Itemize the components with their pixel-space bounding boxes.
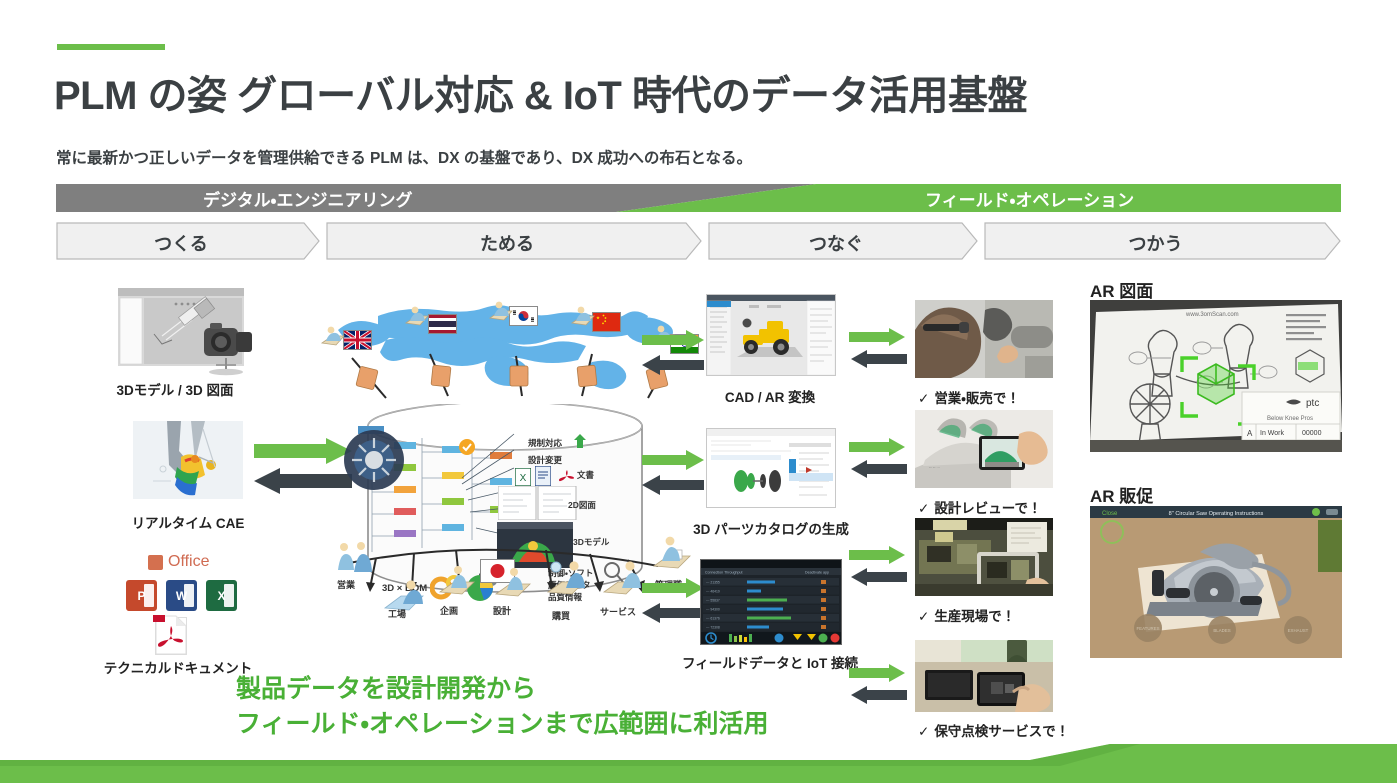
- repo-label-regulation: 規制対応: [528, 437, 562, 449]
- svg-text:--- 46419: --- 46419: [706, 590, 720, 594]
- 2d-drawing-thumb: [498, 486, 578, 520]
- role-label-sales: 営業: [337, 578, 355, 591]
- ar-promo-header: 8" Circular Saw Operating Instructions: [1169, 511, 1264, 517]
- office-brand-label: Office: [168, 553, 210, 571]
- phase-chevrons: つくる ためる つなぐ つかう: [56, 222, 1341, 260]
- left-caption-3d-model: 3Dモデル / 3D 図面: [80, 379, 270, 399]
- page-subtitle: 常に最新かつ正しいデータを管理供給できる PLM は、DX の基盤であり、DX …: [56, 146, 752, 168]
- ar-circular-saw-photo: Close 8" Circular Saw Operating Instruct…: [1090, 506, 1342, 658]
- phase-label-tsunagu: つなぐ: [708, 230, 964, 256]
- role-figure-manager: [650, 534, 700, 578]
- accent-rule: [57, 44, 165, 50]
- cad-ar-conversion-screenshot: [706, 294, 836, 376]
- svg-text:--- 61376: --- 61376: [706, 617, 720, 621]
- repo-label-design-change: 設計変更: [528, 454, 562, 466]
- iot-dashboard-screenshot: Connection Throughput Deactivate app ---…: [700, 559, 842, 645]
- person-worker-china: [570, 305, 598, 329]
- slide-root: PLM の姿 グローバル対応 & IoT 時代のデータ活用基盤 常に最新かつ正し…: [0, 0, 1397, 783]
- ar-hotspot-exhaust: EXHAUST: [1288, 628, 1309, 633]
- svg-text:Deactivate app: Deactivate app: [805, 571, 829, 575]
- repo-label-3d-model: 3Dモデル: [573, 536, 609, 548]
- tablet-car-review-photo: -- -- ...: [915, 410, 1053, 488]
- usecase-caption-production: ✓生産現場で！: [918, 605, 1015, 625]
- person-worker-thailand: [404, 305, 432, 329]
- check-icon-1: ✓: [918, 391, 929, 407]
- cae-simulation-thumbnail: [133, 421, 243, 499]
- role-label-service: サービス: [600, 605, 636, 618]
- svg-text:--- 72308: --- 72308: [706, 626, 720, 630]
- camera-icon: [196, 318, 260, 376]
- repo-label-2d-drawing: 2D図面: [568, 499, 596, 511]
- arrow-pair-usecase-2: [843, 438, 913, 480]
- ar-promo-close: Close: [1102, 511, 1118, 517]
- factory-floor-photo: [915, 518, 1053, 596]
- repo-label-document: 文書: [577, 469, 594, 481]
- acrobat-icon: [152, 614, 192, 656]
- parts-catalog-screenshot: [706, 428, 836, 508]
- office-app-icons: P W X: [126, 580, 237, 611]
- phase-label-tameru: ためる: [326, 230, 688, 256]
- arrow-pair-usecase-4: [843, 664, 913, 706]
- check-icon-2: ✓: [918, 501, 929, 517]
- hololens-photo: [915, 300, 1053, 378]
- role-figure-planning: [438, 564, 482, 602]
- svg-text:X: X: [520, 473, 527, 484]
- usecase-text-design-review: 設計レビューで！: [934, 501, 1041, 516]
- usecase-text-sales: 営業・販売で！: [934, 391, 1020, 406]
- ar-drawing-site: www.3omScan.com: [1185, 312, 1239, 318]
- arrow-pair-center-top: [638, 330, 712, 378]
- regulation-green-icon: [573, 434, 587, 457]
- role-label-design: 設計: [493, 604, 511, 617]
- key-statement: 製品データを設計開発から フィールド・オペレーションまで広範囲に利活用: [236, 672, 769, 741]
- regulation-icon: [458, 438, 476, 461]
- ar-drawing-title: AR 図面: [1090, 277, 1153, 302]
- office-brand: Office: [124, 553, 254, 575]
- ar-drawing-photo: www.3omScan.com: [1090, 300, 1342, 452]
- usecase-text-production: 生産現場で！: [934, 609, 1015, 624]
- middle-caption-cad-ar: CAD / AR 変換: [676, 386, 864, 406]
- banner-label-digital-engineering: デジタル・エンジニアリング: [203, 186, 412, 211]
- svg-text:-- -- ...: -- -- ...: [929, 464, 940, 469]
- middle-caption-parts-catalog: 3D パーツカタログの生成: [662, 518, 880, 538]
- ar-drawing-subject: Below Knee Pros: [1267, 416, 1313, 422]
- svg-text:--- 55837: --- 55837: [706, 599, 720, 603]
- maintenance-tablet-photo: [915, 640, 1053, 712]
- role-figure-sales: [334, 540, 380, 580]
- ar-drawing-brand: ptc: [1306, 398, 1319, 409]
- ar-promo-title: AR 販促: [1090, 482, 1153, 507]
- usecase-caption-maintenance: ✓保守点検サービスで！: [918, 720, 1069, 740]
- page-title: PLM の姿 グローバル対応 & IoT 時代のデータ活用基盤: [54, 63, 1027, 121]
- usecase-text-maintenance: 保守点検サービスで！: [934, 724, 1069, 739]
- svg-text:Connection Throughput: Connection Throughput: [705, 571, 743, 575]
- arrow-pair-usecase-3: [843, 546, 913, 588]
- role-label-procurement: 購買: [552, 609, 570, 622]
- excel-icon: X: [206, 580, 237, 611]
- role-figure-design: [494, 566, 538, 604]
- banner-label-field-operation: フィールド・オペレーション: [925, 186, 1134, 211]
- word-icon: W: [166, 580, 197, 611]
- ar-hotspot-blades: BLADES: [1213, 628, 1230, 633]
- check-icon-4: ✓: [918, 724, 929, 740]
- arrow-pair-center-mid: [638, 450, 712, 498]
- role-label-factory: 工場: [388, 607, 406, 620]
- arrow-pair-usecase-1: [843, 328, 913, 370]
- key-statement-line1: 製品データを設計開発から: [236, 672, 769, 707]
- footer-band: [0, 744, 1397, 783]
- flag-connectors: [330, 340, 680, 415]
- role-label-planning: 企画: [440, 604, 458, 617]
- ar-hotspot-features: FEATURES: [1136, 626, 1159, 631]
- person-worker-korea: [488, 300, 516, 324]
- usecase-caption-sales: ✓営業・販売で！: [918, 387, 1020, 407]
- svg-text:--- 21355: --- 21355: [706, 581, 720, 585]
- check-icon-3: ✓: [918, 609, 929, 625]
- powerpoint-icon: P: [126, 580, 157, 611]
- ar-drawing-number: 00000: [1302, 430, 1322, 437]
- ar-drawing-rev: A: [1247, 429, 1253, 438]
- usecase-caption-design-review: ✓設計レビューで！: [918, 497, 1042, 517]
- left-caption-cae: リアルタイム CAE: [98, 512, 278, 532]
- phase-label-tsukuru: つくる: [56, 230, 306, 256]
- flag-thailand: [428, 314, 457, 334]
- phase-label-tsukau: つかう: [984, 230, 1327, 256]
- svg-text:--- 94300: --- 94300: [706, 608, 720, 612]
- key-statement-line2: フィールド・オペレーションまで広範囲に利活用: [236, 707, 769, 742]
- role-figure-procurement: [544, 558, 598, 604]
- ar-drawing-status: In Work: [1260, 430, 1284, 437]
